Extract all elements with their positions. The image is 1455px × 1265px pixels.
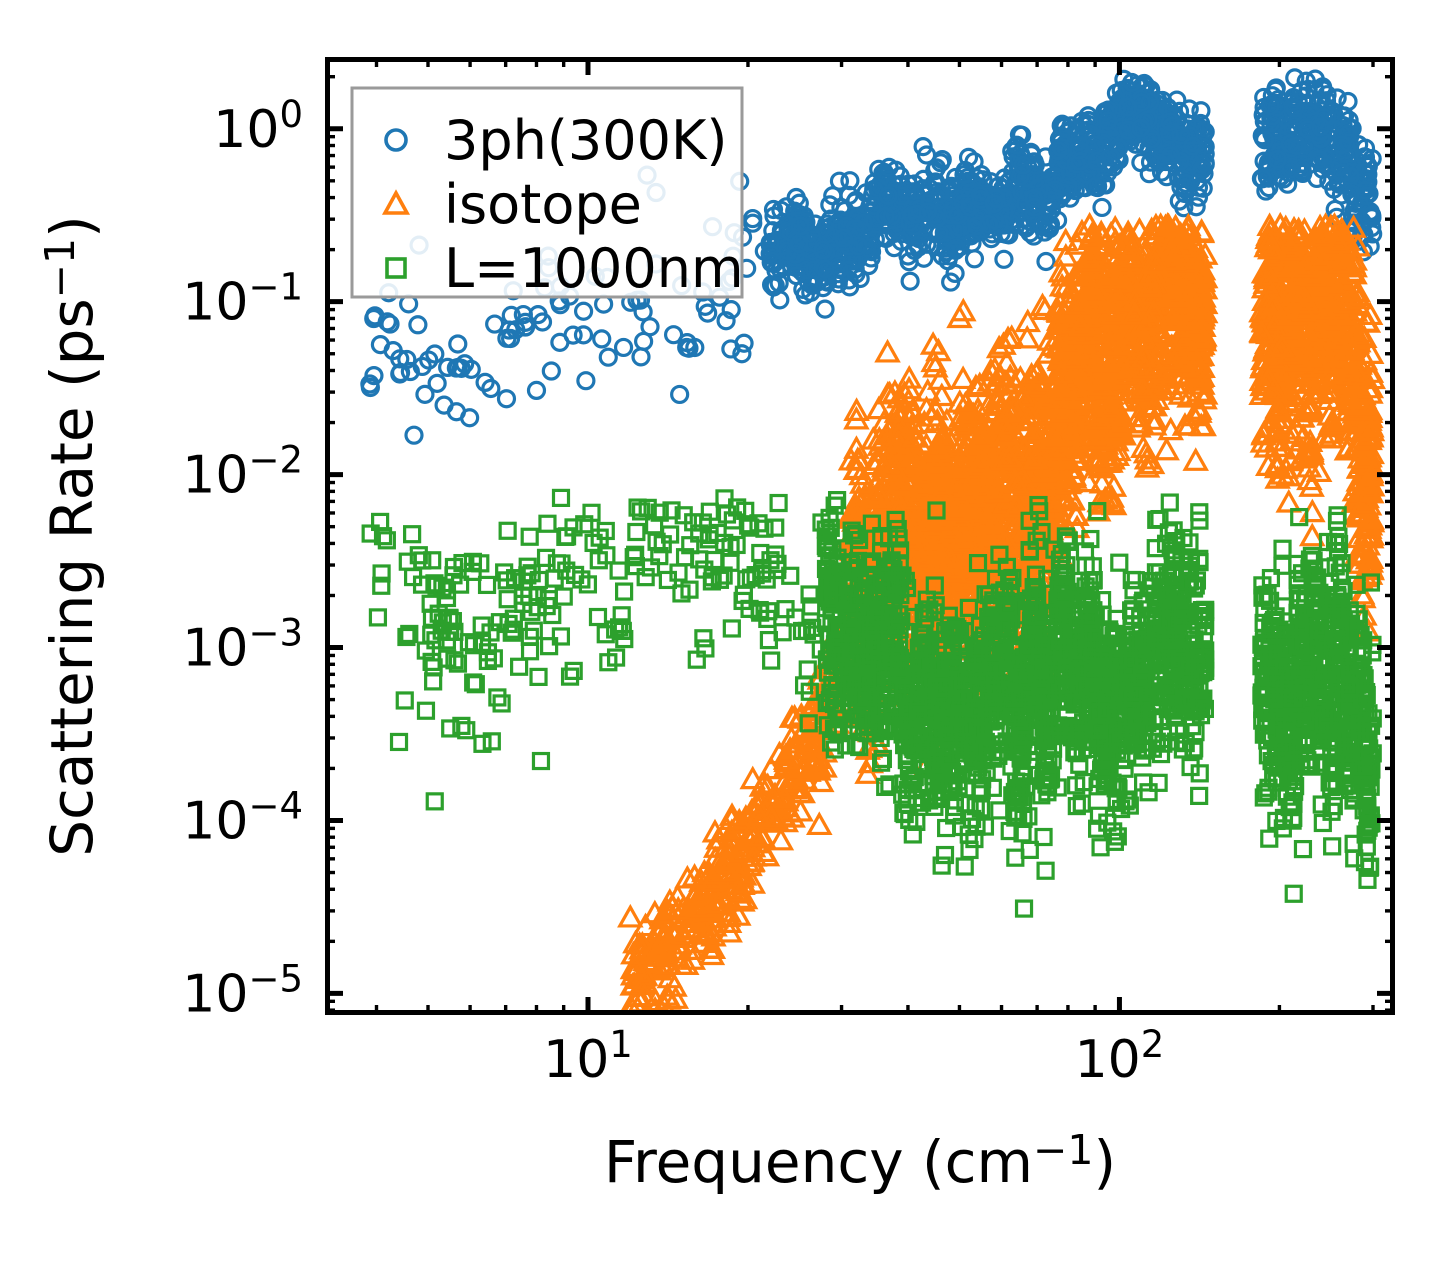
data-point — [1302, 502, 1323, 521]
data-point — [594, 331, 610, 347]
data-point — [406, 427, 422, 443]
data-point — [817, 301, 833, 317]
data-point — [1038, 253, 1054, 269]
data-point — [543, 363, 559, 379]
data-point — [576, 303, 592, 319]
data-point — [917, 381, 938, 400]
data-point — [633, 349, 649, 365]
data-point — [953, 369, 974, 388]
data-point — [575, 327, 591, 343]
data-point — [600, 349, 616, 365]
data-point — [672, 386, 688, 402]
data-point — [642, 319, 658, 335]
plot-canvas: 10110210010−110−210−310−410−5 Frequency … — [0, 0, 1455, 1265]
data-point — [429, 375, 445, 391]
data-point — [809, 815, 830, 834]
data-point — [528, 382, 544, 398]
data-point — [877, 342, 898, 361]
data-point — [620, 907, 641, 926]
data-point — [616, 339, 632, 355]
data-point — [552, 334, 568, 350]
data-point — [966, 251, 982, 267]
data-point — [1340, 93, 1356, 109]
scatter-plot-figure: 10110210010−110−210−310−410−5 Frequency … — [0, 0, 1455, 1265]
data-point — [410, 317, 426, 333]
data-point — [578, 373, 594, 389]
data-point — [498, 391, 514, 407]
data-point — [996, 251, 1012, 267]
data-point — [450, 336, 466, 352]
data-point — [1094, 199, 1110, 215]
data-point — [1185, 451, 1206, 470]
data-point — [902, 273, 918, 289]
data-point — [1156, 440, 1177, 459]
